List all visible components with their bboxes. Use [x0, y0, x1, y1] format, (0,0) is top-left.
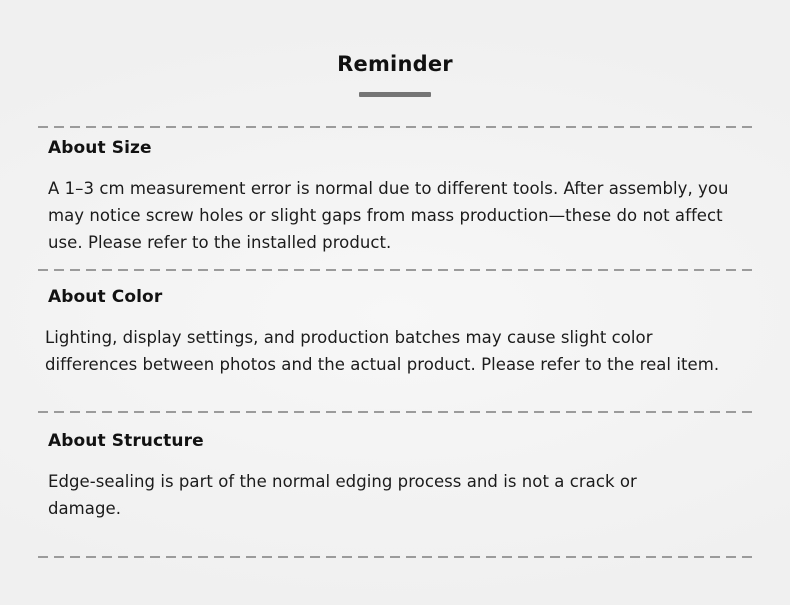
section-about-size: About Size A 1–3 cm measurement error is…	[44, 137, 756, 256]
section-divider-after-color	[38, 411, 758, 413]
section-body-about-size: A 1–3 cm measurement error is normal due…	[48, 175, 754, 256]
reminder-page: Reminder About Size A 1–3 cm measurement…	[0, 0, 790, 605]
page-title: Reminder	[0, 50, 790, 78]
section-divider-top	[38, 126, 758, 128]
section-about-color: About Color Lighting, display settings, …	[44, 286, 756, 378]
section-body-about-color: Lighting, display settings, and producti…	[45, 324, 745, 378]
section-heading-about-color: About Color	[48, 286, 756, 308]
section-heading-about-structure: About Structure	[48, 430, 756, 452]
section-divider-bottom	[38, 556, 758, 558]
section-divider-after-size	[38, 269, 758, 271]
title-underline-rule	[359, 92, 431, 97]
section-about-structure: About Structure Edge-sealing is part of …	[44, 430, 756, 522]
page-title-block: Reminder	[0, 50, 790, 97]
section-body-about-structure: Edge-sealing is part of the normal edgin…	[48, 468, 708, 522]
section-heading-about-size: About Size	[48, 137, 756, 159]
